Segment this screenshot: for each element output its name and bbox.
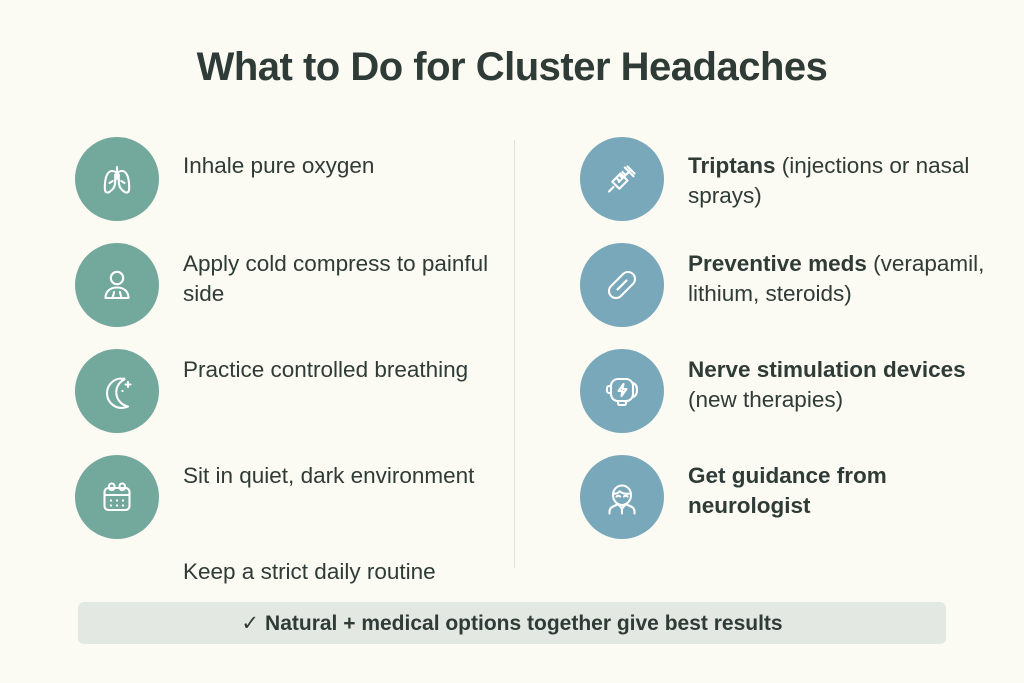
summary-banner: ✓Natural + medical options together give… [78,602,946,644]
capsule-pill-icon [580,243,664,327]
infographic-poster: What to Do for Cluster Headaches [0,0,1024,683]
list-item: Sit in quiet, dark environment [75,455,495,539]
crescent-moon-icon [75,349,159,433]
device-bolt-icon [580,349,664,433]
summary-banner-text: ✓Natural + medical options together give… [241,611,782,636]
list-item-label: Sit in quiet, dark environment [183,455,495,491]
list-item-label: Preventive meds (verapamil, lithium, ste… [688,243,1000,308]
list-item-label: Practice controlled breathing [183,349,495,385]
person-torso-icon [75,243,159,327]
two-column-content: Inhale pure oxygen Apply cold compress t… [0,137,1024,567]
syringe-icon [580,137,664,221]
list-item-strong: Nerve stimulation devices [688,357,966,382]
list-item-label: Inhale pure oxygen [183,137,495,181]
list-item-strong: Get guidance from neurologist [688,463,887,518]
daily-routine-note: Keep a strict daily routine [75,557,495,587]
right-column: Triptans (injections or nasal sprays) Pr… [580,137,1000,561]
summary-banner-label: Natural + medical options together give … [265,612,783,635]
left-column: Inhale pure oxygen Apply cold compress t… [75,137,495,587]
lungs-icon [75,137,159,221]
list-item-label: Nerve stimulation devices (new therapies… [688,349,1000,414]
list-item-strong: Triptans [688,153,776,178]
list-item: Inhale pure oxygen [75,137,495,221]
list-item-note: (new therapies) [688,387,843,412]
page-title: What to Do for Cluster Headaches [0,44,1024,90]
check-icon: ✓ [241,612,259,635]
column-divider [514,140,515,568]
list-item: Nerve stimulation devices (new therapies… [580,349,1000,433]
list-item-strong: Preventive meds [688,251,867,276]
list-item-label: Apply cold compress to painful side [183,243,495,308]
calendar-icon [75,455,159,539]
list-item: Get guidance from neurologist [580,455,1000,539]
list-item: Apply cold compress to painful side [75,243,495,327]
list-item-label: Triptans (injections or nasal sprays) [688,137,1000,210]
doctor-face-icon [580,455,664,539]
list-item: Practice controlled breathing [75,349,495,433]
list-item-label: Get guidance from neurologist [688,455,1000,520]
list-item: Preventive meds (verapamil, lithium, ste… [580,243,1000,327]
list-item: Triptans (injections or nasal sprays) [580,137,1000,221]
